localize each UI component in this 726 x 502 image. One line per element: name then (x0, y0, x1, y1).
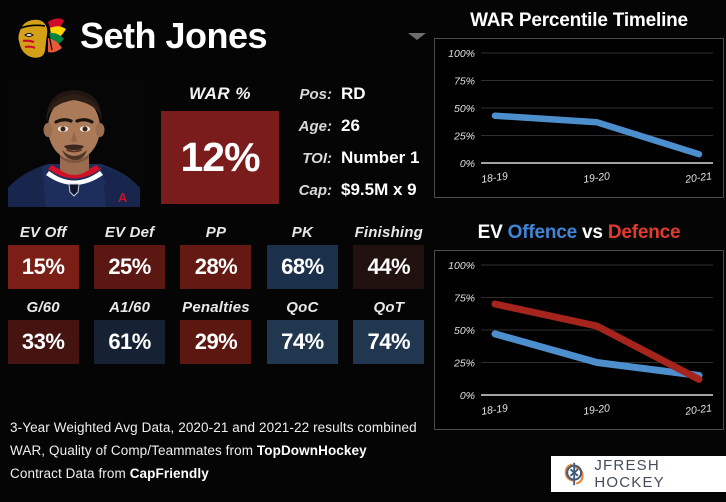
player-name: Seth Jones (80, 15, 267, 57)
stat-box: 74% (267, 320, 338, 364)
stat-box: 28% (180, 245, 251, 289)
stat-value: 44% (368, 254, 411, 280)
stat-cell-a1-60: A1/6061% (86, 299, 172, 364)
y-tick-label: 25% (453, 358, 475, 370)
chart-title-part: EV (478, 222, 508, 243)
stat-label: Finishing (346, 224, 432, 241)
stat-percentile-grid: EV Off15%EV Def25%PP28%PK68%Finishing44%… (0, 224, 432, 364)
stat-value: 74% (368, 329, 411, 355)
x-tick-label: 18-19 (480, 170, 508, 186)
bio-key-pos: Pos: (286, 86, 341, 103)
stat-cell-finishing: Finishing44% (346, 224, 432, 289)
stat-label: Penalties (173, 299, 259, 316)
jfresh-hockey-brand: JFRESH HOCKEY (551, 456, 726, 492)
y-tick-label: 50% (454, 325, 475, 337)
stat-label: PK (259, 224, 345, 241)
stat-cell-g-60: G/6033% (0, 299, 86, 364)
stat-cell-ev-def: EV Def25% (86, 224, 172, 289)
stat-cell-qoc: QoC74% (259, 299, 345, 364)
chart-title-part: Defence (608, 222, 681, 243)
stat-value: 33% (22, 329, 65, 355)
stat-value: 29% (195, 329, 238, 355)
footer-war-source-name: TopDownHockey (257, 443, 367, 458)
bio-row-pos: Pos: RD (286, 84, 431, 114)
jfresh-hockey-logo-icon (563, 461, 585, 487)
chart-title-part: vs (577, 222, 608, 243)
y-tick-label: 100% (448, 48, 475, 60)
player-headshot: A (6, 76, 143, 207)
y-tick-label: 0% (460, 158, 475, 170)
jfresh-hockey-brand-text: JFRESH HOCKEY (594, 457, 726, 491)
bio-row-toi: TOI: Number 1 (286, 148, 431, 178)
x-tick-label: 19-20 (582, 170, 610, 186)
stat-label: EV Def (86, 224, 172, 241)
x-tick-label: 20-21 (683, 170, 712, 186)
war-label: WAR % (158, 84, 282, 104)
stat-value: 15% (22, 254, 65, 280)
war-value-box: 12% (161, 111, 279, 204)
bio-row-cap: Cap: $9.5M x 9 (286, 180, 431, 210)
stat-box: 74% (353, 320, 424, 364)
y-tick-label: 0% (460, 390, 475, 402)
war-percentile-timeline-chart: WAR Percentile Timeline 0%25%50%75%100%1… (434, 10, 724, 214)
stat-box: 44% (353, 245, 424, 289)
stat-cell-pk: PK68% (259, 224, 345, 289)
stat-value: 25% (108, 254, 151, 280)
stat-box: 15% (8, 245, 79, 289)
series-line-war-percentile (495, 116, 699, 155)
bio-value-toi: Number 1 (341, 148, 419, 168)
stat-cell-pp: PP28% (173, 224, 259, 289)
chart-title-ev-off-vs-def: EV Offence vs Defence (434, 222, 724, 244)
bio-key-cap: Cap: (286, 182, 341, 199)
chevron-down-icon[interactable] (408, 33, 426, 40)
stat-box: 25% (94, 245, 165, 289)
y-tick-label: 25% (453, 131, 475, 143)
y-tick-label: 50% (454, 103, 475, 115)
war-value: 12% (180, 134, 259, 181)
stat-value: 61% (108, 329, 151, 355)
bio-key-age: Age: (286, 118, 341, 135)
chart-title-part: Offence (508, 222, 577, 243)
series-line-offence (495, 334, 699, 376)
footer-contract-source-prefix: Contract Data from (10, 466, 130, 481)
ev-offence-vs-defence-chart: EV Offence vs Defence 0%25%50%75%100%18-… (434, 222, 724, 444)
stat-label: QoT (346, 299, 432, 316)
svg-text:A: A (118, 190, 128, 205)
chart-plot-area-war-timeline: 0%25%50%75%100%18-1919-2020-21 (434, 38, 724, 198)
chicago-blackhawks-logo-icon (12, 14, 74, 64)
bio-value-pos: RD (341, 84, 366, 104)
y-tick-label: 100% (448, 260, 475, 272)
stat-label: QoC (259, 299, 345, 316)
footer-contract-source-name: CapFriendly (130, 466, 209, 481)
stat-cell-ev-off: EV Off15% (0, 224, 86, 289)
card-footer: 3-Year Weighted Avg Data, 2020-21 and 20… (10, 420, 430, 489)
bio-value-age: 26 (341, 116, 360, 136)
stat-label: A1/60 (86, 299, 172, 316)
stat-value: 74% (281, 329, 324, 355)
stat-box: 29% (180, 320, 251, 364)
stat-label: PP (173, 224, 259, 241)
chart-title-war-timeline: WAR Percentile Timeline (434, 10, 724, 32)
stat-cell-qot: QoT74% (346, 299, 432, 364)
bio-key-toi: TOI: (286, 150, 341, 167)
card-header: Seth Jones (0, 0, 430, 72)
y-tick-label: 75% (454, 76, 475, 88)
war-percentile-block: WAR % 12% (158, 84, 282, 204)
stat-box: 61% (94, 320, 165, 364)
footer-line-contract-source: Contract Data from CapFriendly (10, 466, 430, 481)
bio-row-age: Age: 26 (286, 116, 431, 146)
stat-box: 68% (267, 245, 338, 289)
stat-label: EV Off (0, 224, 86, 241)
stat-box: 33% (8, 320, 79, 364)
footer-line-war-source: WAR, Quality of Comp/Teammates from TopD… (10, 443, 430, 458)
x-tick-label: 18-19 (480, 402, 508, 418)
x-tick-label: 20-21 (683, 402, 712, 418)
stat-value: 68% (281, 254, 324, 280)
player-card: Seth Jones (0, 0, 726, 502)
footer-line-data-note: 3-Year Weighted Avg Data, 2020-21 and 20… (10, 420, 430, 435)
footer-war-source-prefix: WAR, Quality of Comp/Teammates from (10, 443, 257, 458)
player-bio-table: Pos: RD Age: 26 TOI: Number 1 Cap: $9.5M… (286, 84, 431, 212)
chart-plot-area-ev-off-vs-def: 0%25%50%75%100%18-1919-2020-21 (434, 250, 724, 430)
y-tick-label: 75% (454, 293, 475, 305)
x-tick-label: 19-20 (582, 402, 610, 418)
stat-value: 28% (195, 254, 238, 280)
stat-cell-penalties: Penalties29% (173, 299, 259, 364)
bio-value-cap: $9.5M x 9 (341, 180, 417, 200)
stat-label: G/60 (0, 299, 86, 316)
